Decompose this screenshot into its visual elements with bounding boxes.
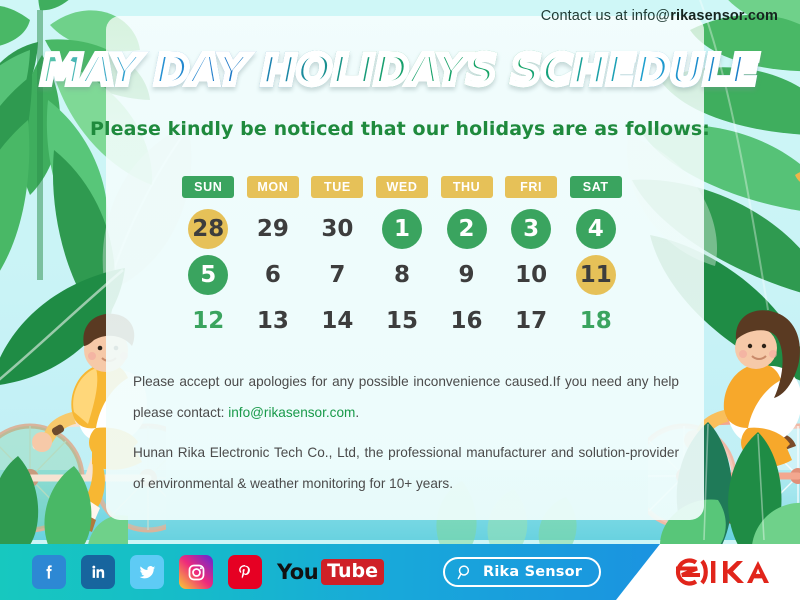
holiday-calendar: SUNMONTUEWEDTHUFRISAT 282930123456789101…	[176, 176, 628, 344]
calendar-day-13: 13	[253, 301, 293, 341]
company-paragraph: Hunan Rika Electronic Tech Co., Ltd, the…	[133, 437, 679, 499]
calendar-day-6: 6	[253, 255, 293, 295]
calendar-day-2: 2	[447, 209, 487, 249]
calendar-day-header-sun: SUN	[182, 176, 234, 198]
search-icon	[456, 563, 475, 582]
contact-email-link[interactable]: info@rikasensor.com	[228, 405, 355, 420]
apology-paragraph: Please accept our apologies for any poss…	[133, 366, 679, 428]
calendar-day-29: 29	[253, 209, 293, 249]
contact-line: Contact us at info@rikasensor.com	[541, 8, 778, 24]
youtube-tube-text: Tube	[321, 559, 384, 585]
calendar-day-10: 10	[511, 255, 551, 295]
calendar-week-row: 12131415161718	[176, 298, 628, 344]
youtube-icon[interactable]: You Tube	[277, 555, 384, 589]
subtitle: Please kindly be noticed that our holida…	[0, 118, 800, 140]
page-title-text: MAY DAY HOLIDAYS SCHEDULE	[41, 46, 759, 94]
calendar-day-4: 4	[576, 209, 616, 249]
calendar-week-row: 2829301234	[176, 206, 628, 252]
pinterest-icon[interactable]	[228, 555, 262, 589]
calendar-week-row: 567891011	[176, 252, 628, 298]
calendar-day-8: 8	[382, 255, 422, 295]
calendar-day-header-sat: SAT	[570, 176, 622, 198]
calendar-day-11: 11	[576, 255, 616, 295]
page-title: MAY DAY HOLIDAYS SCHEDULE	[0, 46, 800, 94]
calendar-day-header-thu: THU	[441, 176, 493, 198]
body-copy: Please accept our apologies for any poss…	[133, 366, 679, 499]
linkedin-icon[interactable]	[81, 555, 115, 589]
social-links: You Tube	[32, 544, 384, 600]
calendar-header-row: SUNMONTUEWEDTHUFRISAT	[176, 176, 628, 198]
calendar-day-1: 1	[382, 209, 422, 249]
footer-bar: You Tube Rika Sensor	[0, 544, 800, 600]
search-pill[interactable]: Rika Sensor	[443, 557, 601, 587]
calendar-day-3: 3	[511, 209, 551, 249]
calendar-day-header-wed: WED	[376, 176, 428, 198]
calendar-day-5: 5	[188, 255, 228, 295]
calendar-day-28: 28	[188, 209, 228, 249]
calendar-day-12: 12	[188, 301, 228, 341]
calendar-day-30: 30	[317, 209, 357, 249]
search-pill-label: Rika Sensor	[483, 564, 582, 580]
calendar-day-17: 17	[511, 301, 551, 341]
calendar-day-header-mon: MON	[247, 176, 299, 198]
contact-prefix: Contact us at info@	[541, 8, 670, 24]
youtube-you-text: You	[277, 560, 318, 584]
twitter-icon[interactable]	[130, 555, 164, 589]
calendar-day-16: 16	[447, 301, 487, 341]
calendar-day-9: 9	[447, 255, 487, 295]
contact-domain: rikasensor.com	[670, 8, 778, 24]
instagram-icon[interactable]	[179, 555, 213, 589]
poster-canvas: Contact us at info@rikasensor.com MAY DA…	[0, 0, 800, 600]
apology-text: Please accept our apologies for any poss…	[133, 374, 679, 420]
rika-logo[interactable]	[666, 554, 778, 590]
calendar-day-7: 7	[317, 255, 357, 295]
calendar-day-header-fri: FRI	[505, 176, 557, 198]
calendar-body: 282930123456789101112131415161718	[176, 206, 628, 344]
calendar-day-18: 18	[576, 301, 616, 341]
calendar-day-header-tue: TUE	[311, 176, 363, 198]
calendar-day-14: 14	[317, 301, 357, 341]
apology-period: .	[355, 405, 359, 420]
calendar-day-15: 15	[382, 301, 422, 341]
facebook-icon[interactable]	[32, 555, 66, 589]
